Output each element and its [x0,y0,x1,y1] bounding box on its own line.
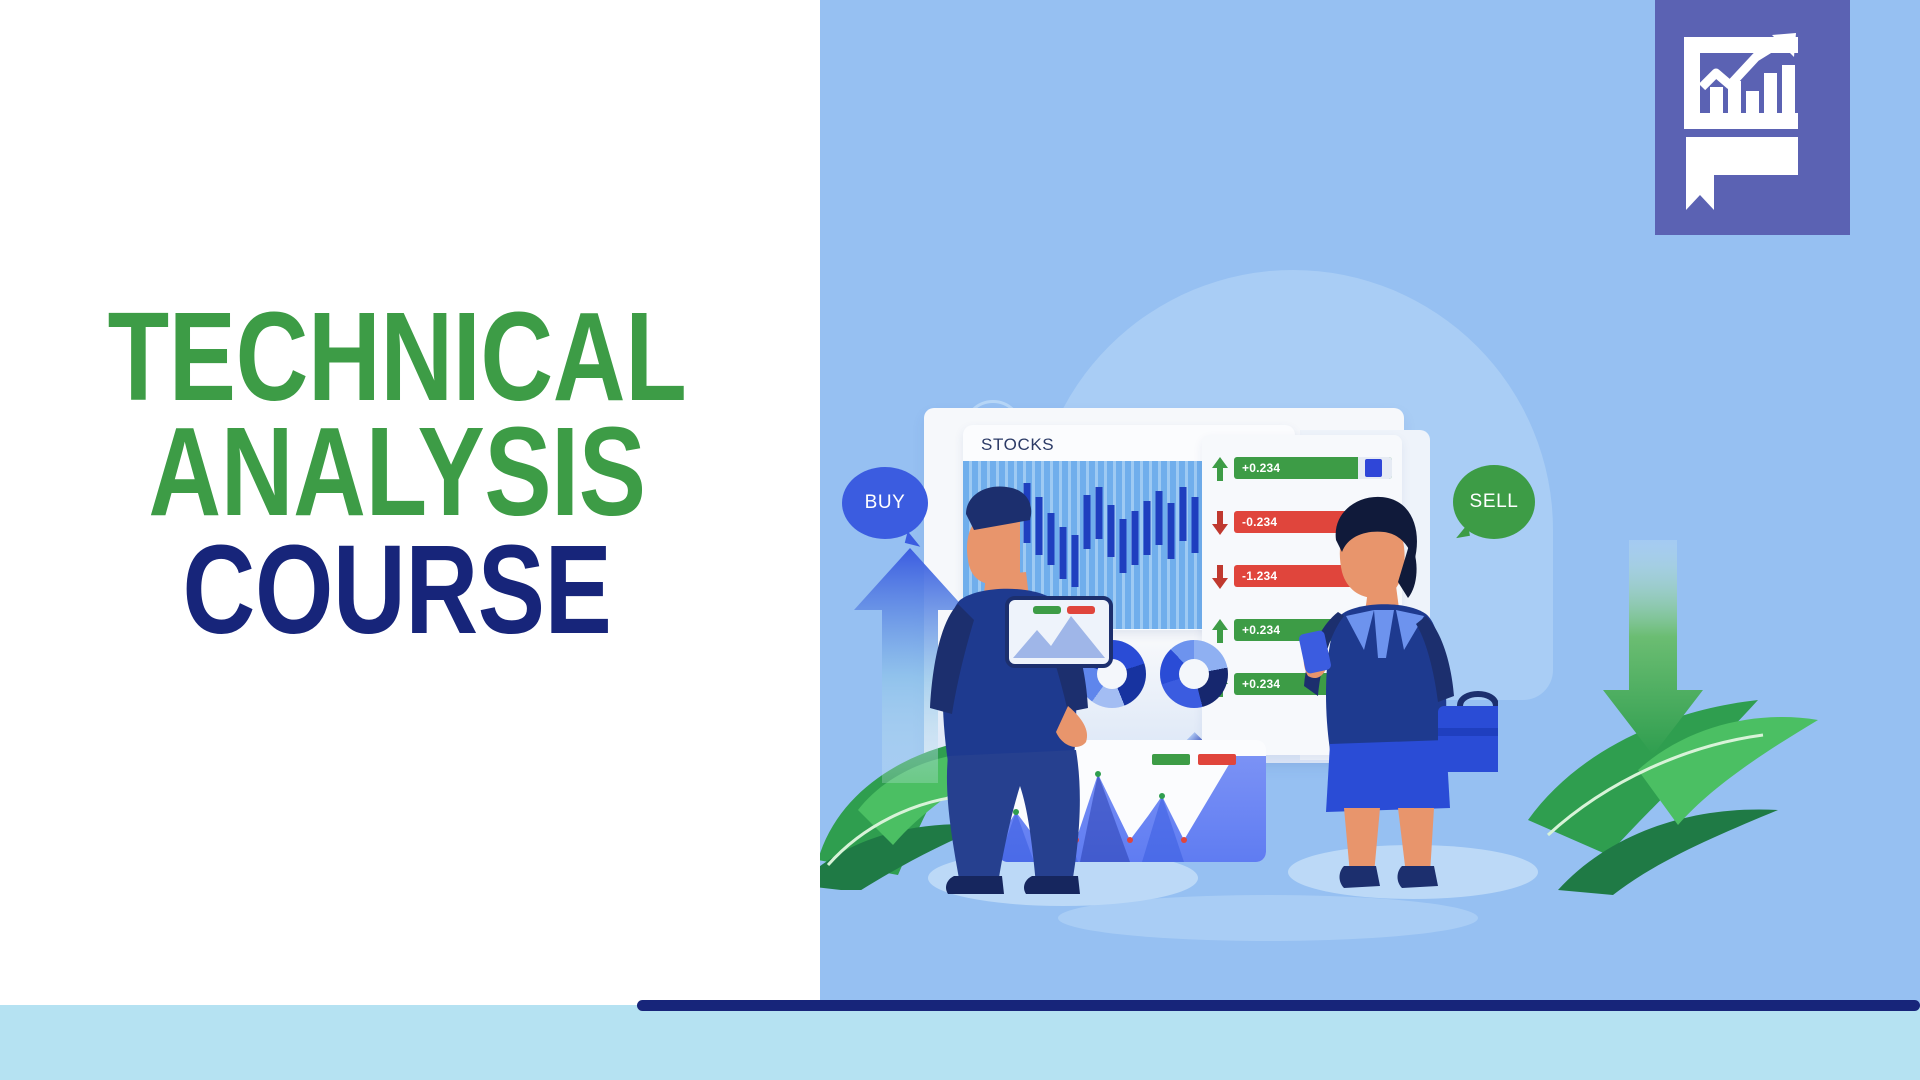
ticker-value: +0.234 [1234,623,1280,637]
ticker-value: +0.234 [1234,677,1280,691]
sell-badge[interactable]: SELL [1453,465,1535,539]
ticker-knob [1365,459,1382,477]
arrow-down-small-icon [1212,507,1228,537]
arrow-down-icon [1603,540,1703,755]
donut-chart-3 [1160,640,1228,708]
title-line-1: TECHNICAL [79,300,714,413]
ticker-value: -0.234 [1234,515,1277,529]
footer-band [0,1005,1920,1080]
ticker-bar: +0.234 [1234,457,1392,479]
arrow-up-small-icon [1212,615,1228,645]
legend-swatch-loss [1198,754,1236,765]
arrow-up-small-icon [1212,453,1228,483]
sell-badge-label: SELL [1470,491,1519,513]
tablet-device [1003,592,1123,682]
legend-swatch-gain [1152,754,1190,765]
businessman-figure [908,480,1138,900]
title-line-2: ANALYSIS [79,415,714,528]
title-panel: TECHNICAL ANALYSIS COURSE [0,0,820,1005]
ticker-row: +0.234 [1212,453,1392,483]
ticker-value: -1.234 [1234,569,1277,583]
brand-logo[interactable] [1655,0,1850,235]
page-title: TECHNICAL ANALYSIS COURSE [0,300,820,646]
businesswoman-figure [1288,490,1498,890]
buy-badge[interactable]: BUY [842,467,928,539]
ticker-value: +0.234 [1234,461,1280,475]
promo-banner: STOCKS [0,0,1920,1080]
chart-growth-bookmark-icon [1678,25,1828,210]
arrow-down-small-icon [1212,561,1228,591]
footer-divider [637,1000,1920,1011]
buy-badge-label: BUY [865,492,906,514]
title-line-3: COURSE [79,533,714,646]
stocks-chart-title: STOCKS [981,435,1054,455]
